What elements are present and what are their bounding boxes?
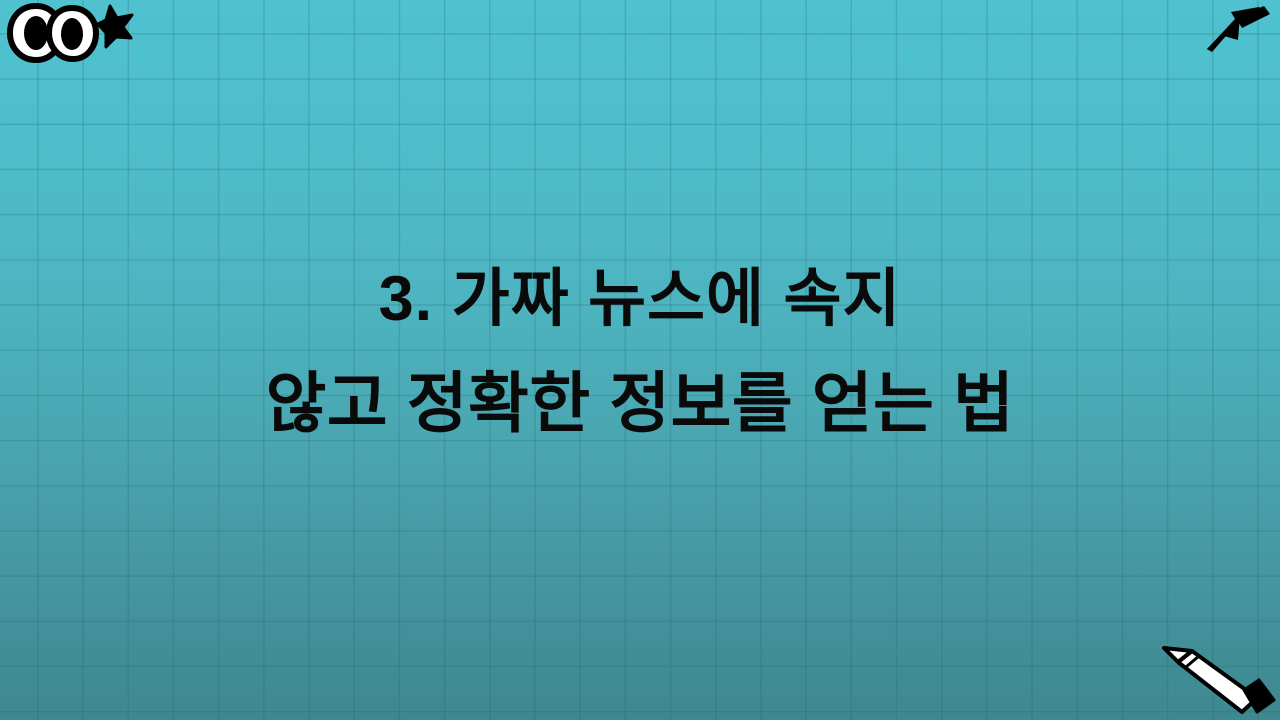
star-icon: [98, 6, 132, 47]
headline-line-2: 않고 정확한 정보를 얻는 법: [60, 350, 1220, 457]
eyes-star-doodle-group: [6, 2, 136, 64]
arrow-down-left-icon: [1202, 2, 1274, 58]
pencil-doodle-group: [1156, 642, 1276, 720]
headline-line-1: 3. 가짜 뉴스에 속지: [60, 248, 1220, 350]
pencil-icon: [1156, 642, 1276, 720]
page-title: 3. 가짜 뉴스에 속지 않고 정확한 정보를 얻는 법: [0, 248, 1280, 457]
arrow-doodle-group: [1202, 2, 1274, 58]
slide-canvas: 3. 가짜 뉴스에 속지 않고 정확한 정보를 얻는 법: [0, 0, 1280, 720]
googly-eyes-icon: [6, 2, 136, 64]
